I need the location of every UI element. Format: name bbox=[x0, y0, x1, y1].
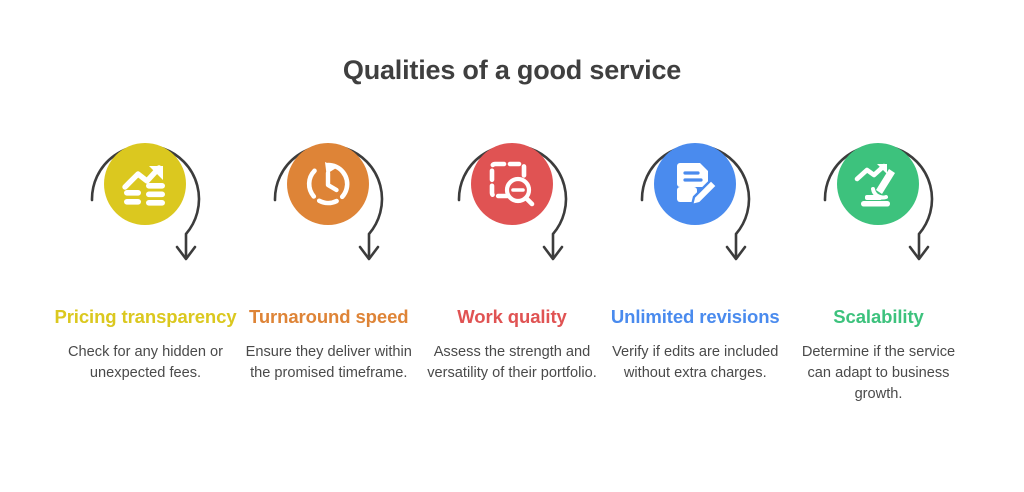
quality-column-work-quality: Work quality Assess the strength and ver… bbox=[421, 128, 604, 384]
growth-chart-bars-icon bbox=[118, 157, 172, 211]
quality-column-scalability: Scalability Determine if the service can… bbox=[787, 128, 970, 405]
icon-disc-pricing-transparency bbox=[104, 143, 186, 225]
quality-heading: Turnaround speed bbox=[249, 304, 408, 330]
quality-column-unlimited-revisions: Unlimited revisions Verify if edits are … bbox=[604, 128, 787, 384]
quality-heading: Unlimited revisions bbox=[611, 304, 780, 330]
microscope-growth-icon bbox=[851, 157, 905, 211]
badge-work-quality bbox=[450, 128, 575, 276]
badge-pricing-transparency bbox=[83, 128, 208, 276]
icon-disc-work-quality bbox=[471, 143, 553, 225]
quality-heading: Scalability bbox=[833, 304, 923, 330]
infographic-canvas: Qualities of a good service bbox=[0, 0, 1024, 492]
qualities-columns: Pricing transparency Check for any hidde… bbox=[54, 128, 970, 405]
quality-heading: Work quality bbox=[457, 304, 566, 330]
quality-heading: Pricing transparency bbox=[54, 304, 236, 330]
quality-description: Determine if the service can adapt to bu… bbox=[793, 342, 965, 405]
badge-scalability bbox=[816, 128, 941, 276]
quality-description: Verify if edits are included without ext… bbox=[609, 342, 781, 384]
quality-column-turnaround-speed: Turnaround speed Ensure they deliver wit… bbox=[237, 128, 420, 384]
clock-rotate-arrow-icon bbox=[301, 157, 355, 211]
badge-unlimited-revisions bbox=[633, 128, 758, 276]
document-pencil-icon bbox=[668, 157, 722, 211]
icon-disc-scalability bbox=[837, 143, 919, 225]
quality-description: Assess the strength and versatility of t… bbox=[426, 342, 598, 384]
badge-turnaround-speed bbox=[266, 128, 391, 276]
icon-disc-turnaround-speed bbox=[287, 143, 369, 225]
dashed-frame-magnifier-icon bbox=[485, 157, 539, 211]
quality-column-pricing-transparency: Pricing transparency Check for any hidde… bbox=[54, 128, 237, 384]
quality-description: Ensure they deliver within the promised … bbox=[243, 342, 415, 384]
quality-description: Check for any hidden or unexpected fees. bbox=[60, 342, 232, 384]
icon-disc-unlimited-revisions bbox=[654, 143, 736, 225]
page-title: Qualities of a good service bbox=[0, 55, 1024, 86]
